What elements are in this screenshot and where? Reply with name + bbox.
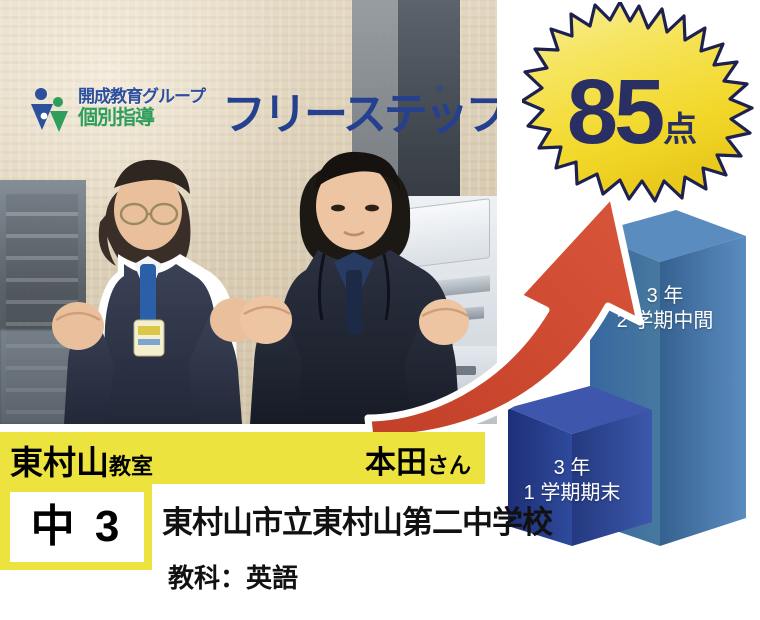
poster-canvas: 開成教育グループ 個別指導 フリーステップ ® xyxy=(0,0,760,620)
instructor-figure xyxy=(48,114,263,424)
classroom-name: 東村山 xyxy=(10,444,109,481)
student-name: 本田 xyxy=(365,445,427,480)
score-text-group: 85 点 xyxy=(522,2,756,214)
classroom-label: 東村山教室 xyxy=(10,436,153,484)
score-number: 85 xyxy=(567,66,661,158)
logo-registered-mark: ® xyxy=(436,84,443,95)
bar-label-1gakki-line1: 3 年 xyxy=(496,456,648,481)
student-name-label: 本田さん xyxy=(365,437,471,482)
grade-value: 中 3 xyxy=(31,505,124,549)
score-unit: 点 xyxy=(663,113,697,147)
classroom-suffix: 教室 xyxy=(109,454,153,479)
student-name-suffix: さん xyxy=(427,453,471,478)
school-name: 東村山市立東村山第二中学校 xyxy=(162,497,552,542)
score-badge: 85 点 xyxy=(522,2,756,214)
grade-box: 中 3 xyxy=(0,484,152,570)
classroom-name-band: 東村山教室 本田さん xyxy=(0,432,485,484)
grade-box-inner: 中 3 xyxy=(10,492,144,562)
subject-label: 教科：英語 xyxy=(168,558,298,595)
